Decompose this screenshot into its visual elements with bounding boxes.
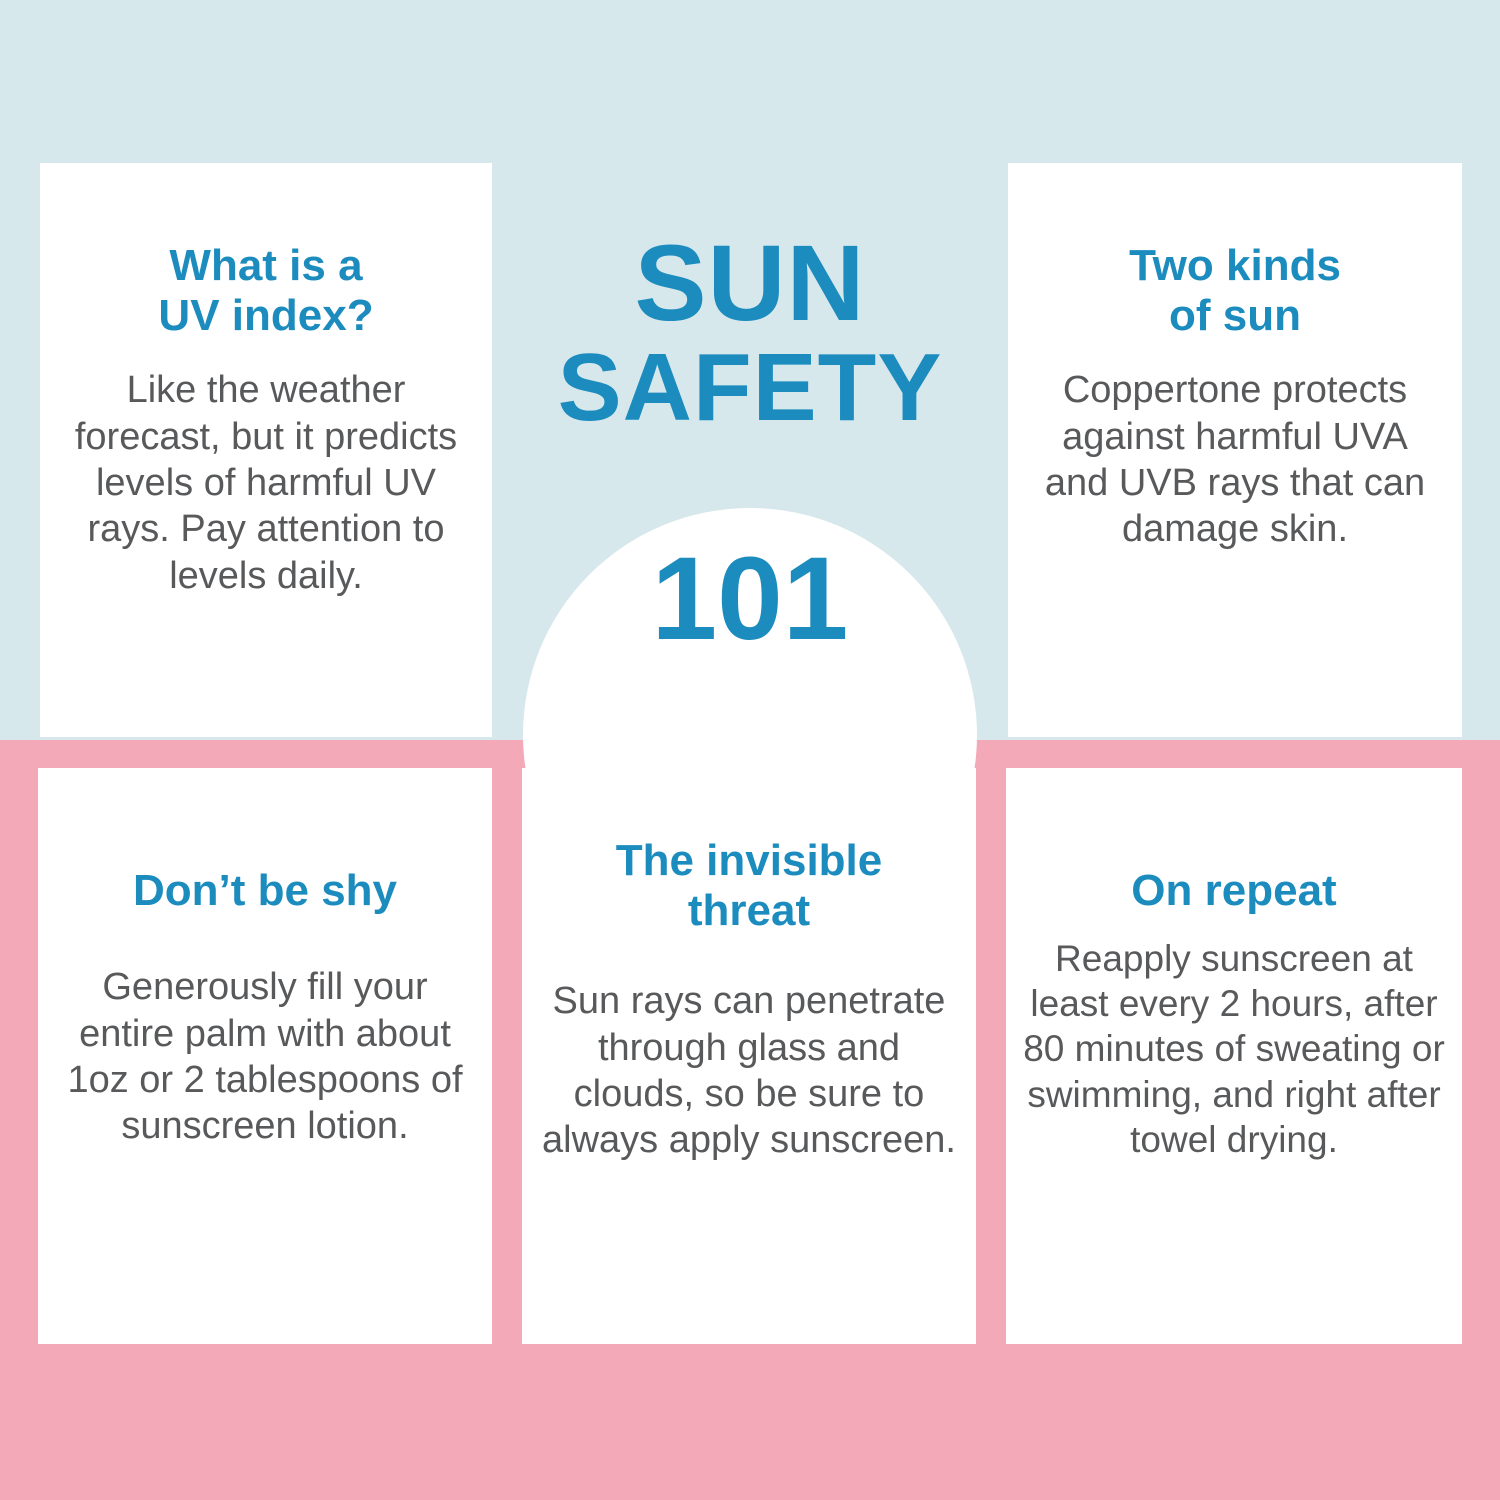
card-uv-index: What is a UV index? Like the weather for… — [40, 163, 492, 737]
card-invisible-threat-title-line2: threat — [688, 886, 810, 935]
hero-title-line-sun: SUN — [500, 228, 1000, 338]
card-two-kinds-body: Coppertone protects against harmful UVA … — [1030, 367, 1440, 552]
card-invisible-threat-body: Sun rays can penetrate through glass and… — [542, 978, 956, 1163]
card-on-repeat: On repeat Reapply sunscreen at least eve… — [1006, 768, 1462, 1344]
card-dont-be-shy-body: Generously fill your entire palm with ab… — [58, 964, 472, 1149]
card-two-kinds-title: Two kinds of sun — [1129, 241, 1341, 341]
hero-title-block: SUN SAFETY — [500, 228, 1000, 439]
hero-badge-101: 101 — [500, 540, 1000, 658]
card-dont-be-shy-title-line1: Don’t be shy — [133, 866, 397, 915]
card-two-kinds-of-sun: Two kinds of sun Coppertone protects aga… — [1008, 163, 1462, 737]
card-dont-be-shy: Don’t be shy Generously fill your entire… — [38, 768, 492, 1344]
card-on-repeat-title: On repeat — [1131, 866, 1336, 916]
card-uv-index-title: What is a UV index? — [158, 241, 373, 341]
infographic-poster: SUN SAFETY 101 What is a UV index? Like … — [0, 0, 1500, 1500]
hero-title-line-safety: SAFETY — [500, 338, 1000, 439]
card-uv-index-body: Like the weather forecast, but it predic… — [62, 367, 470, 599]
card-uv-index-title-line1: What is a — [169, 241, 362, 290]
card-invisible-threat-title-line1: The invisible — [616, 836, 883, 885]
card-dont-be-shy-title: Don’t be shy — [133, 866, 397, 916]
card-uv-index-title-line2: UV index? — [158, 291, 373, 340]
card-invisible-threat-title: The invisible threat — [616, 836, 883, 936]
card-on-repeat-body: Reapply sunscreen at least every 2 hours… — [1022, 936, 1446, 1162]
card-two-kinds-title-line2: of sun — [1169, 291, 1301, 340]
card-on-repeat-title-line1: On repeat — [1131, 866, 1336, 915]
card-invisible-threat: The invisible threat Sun rays can penetr… — [522, 768, 976, 1344]
card-two-kinds-title-line1: Two kinds — [1129, 241, 1341, 290]
